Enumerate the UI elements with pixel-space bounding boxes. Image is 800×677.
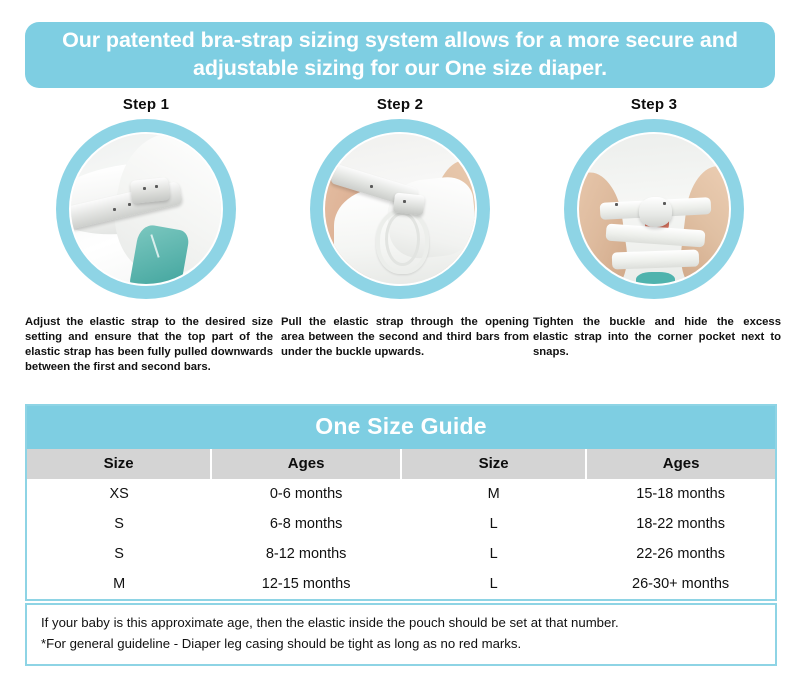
table-row: M 12-15 months L 26-30+ months — [27, 569, 775, 599]
column-header-size-2: Size — [401, 449, 586, 479]
step-1-label: Step 1 — [123, 96, 169, 113]
header-banner-text: Our patented bra-strap sizing system all… — [43, 27, 757, 82]
step-3-photo-tighten-buckle — [579, 134, 729, 284]
step-3: Step 3 Tighten the buckle and hid — [530, 96, 778, 375]
cell-size-1: S — [27, 539, 211, 569]
cell-ages-2: 26-30+ months — [586, 569, 775, 599]
cell-size-1: S — [27, 509, 211, 539]
step-1: Step 1 Adjust the elastic strap t — [22, 96, 270, 375]
guide-note-line-1: If your baby is this approximate age, th… — [41, 612, 761, 633]
cell-ages-1: 6-8 months — [211, 509, 401, 539]
cell-size-2: L — [401, 509, 586, 539]
step-3-label: Step 3 — [631, 96, 677, 113]
column-header-size-1: Size — [27, 449, 211, 479]
step-1-image-ring — [56, 119, 236, 299]
cell-size-2: M — [401, 479, 586, 509]
table-header-row: Size Ages Size Ages — [27, 449, 775, 479]
guide-note-line-2: *For general guideline - Diaper leg casi… — [41, 633, 761, 654]
one-size-guide: One Size Guide Size Ages Size Ages XS 0-… — [25, 404, 777, 601]
cell-ages-1: 0-6 months — [211, 479, 401, 509]
column-header-ages-1: Ages — [211, 449, 401, 479]
column-header-ages-2: Ages — [586, 449, 775, 479]
step-2-caption: Pull the elastic strap through the openi… — [265, 315, 535, 360]
step-1-photo-elastic-strap-adjust — [71, 134, 221, 284]
step-2-image — [323, 132, 477, 286]
step-3-image-ring — [564, 119, 744, 299]
cell-size-1: XS — [27, 479, 211, 509]
step-2-photo-strap-through-opening — [325, 134, 475, 284]
cell-ages-2: 18-22 months — [586, 509, 775, 539]
step-3-image — [577, 132, 731, 286]
table-row: S 6-8 months L 18-22 months — [27, 509, 775, 539]
header-banner: Our patented bra-strap sizing system all… — [25, 22, 775, 88]
cell-ages-2: 22-26 months — [586, 539, 775, 569]
step-2-image-ring — [310, 119, 490, 299]
table-row: XS 0-6 months M 15-18 months — [27, 479, 775, 509]
step-3-caption: Tighten the buckle and hide the excess e… — [521, 315, 787, 360]
table-row: S 8-12 months L 22-26 months — [27, 539, 775, 569]
cell-ages-2: 15-18 months — [586, 479, 775, 509]
step-2-label: Step 2 — [377, 96, 423, 113]
size-table: Size Ages Size Ages XS 0-6 months M 15-1… — [27, 449, 775, 599]
cell-size-2: L — [401, 569, 586, 599]
cell-size-1: M — [27, 569, 211, 599]
cell-ages-1: 12-15 months — [211, 569, 401, 599]
cell-size-2: L — [401, 539, 586, 569]
steps-row: Step 1 Adjust the elastic strap t — [22, 96, 778, 375]
guide-note: If your baby is this approximate age, th… — [25, 603, 777, 666]
guide-title: One Size Guide — [27, 406, 775, 449]
step-1-caption: Adjust the elastic strap to the desired … — [17, 315, 275, 375]
step-1-image — [69, 132, 223, 286]
cell-ages-1: 8-12 months — [211, 539, 401, 569]
step-2: Step 2 Pull the elastic strap thr — [276, 96, 524, 375]
